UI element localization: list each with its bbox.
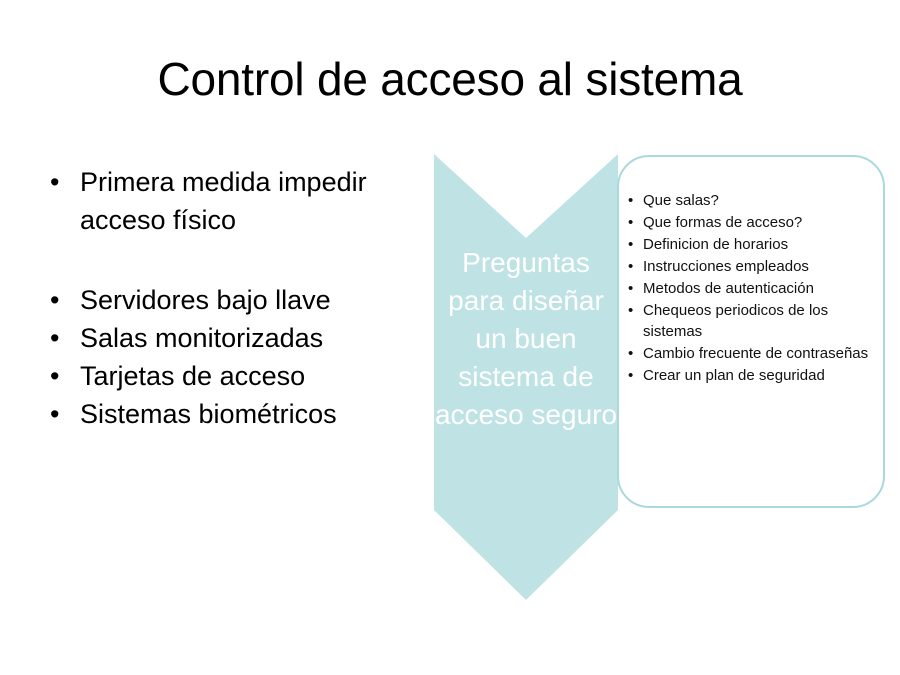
left-bullet-list: •Primera medida impedir acceso físico•Se… xyxy=(50,163,430,433)
list-item: •Sistemas biométricos xyxy=(50,395,430,433)
list-item: •Servidores bajo llave xyxy=(50,281,430,319)
bullet-icon: • xyxy=(628,343,643,364)
bullet-icon: • xyxy=(628,212,643,233)
list-item: •Instrucciones empleados xyxy=(628,256,873,277)
page-title: Control de acceso al sistema xyxy=(0,52,900,106)
list-item-label: Que salas? xyxy=(643,190,873,211)
list-item: •Metodos de autenticación xyxy=(628,278,873,299)
list-item-label: Sistemas biométricos xyxy=(80,395,430,433)
list-item-label: Servidores bajo llave xyxy=(80,281,430,319)
list-item-label: Que formas de acceso? xyxy=(643,212,873,233)
list-item: •Que salas? xyxy=(628,190,873,211)
list-item: •Chequeos periodicos de los sistemas xyxy=(628,300,873,342)
list-item: •Salas monitorizadas xyxy=(50,319,430,357)
bullet-icon: • xyxy=(628,300,643,321)
bullet-icon: • xyxy=(628,365,643,386)
bullet-icon: • xyxy=(50,395,80,433)
bullet-icon: • xyxy=(50,319,80,357)
bullet-icon: • xyxy=(50,281,80,319)
questions-bullet-list: •Que salas?•Que formas de acceso?•Defini… xyxy=(628,190,873,387)
list-item-label: Primera medida impedir acceso físico xyxy=(80,163,430,239)
list-item-label: Instrucciones empleados xyxy=(643,256,873,277)
list-item: •Primera medida impedir acceso físico xyxy=(50,163,430,239)
list-item-label: Metodos de autenticación xyxy=(643,278,873,299)
bullet-icon: • xyxy=(50,357,80,395)
list-item: •Que formas de acceso? xyxy=(628,212,873,233)
list-item-label: Tarjetas de acceso xyxy=(80,357,430,395)
list-item: •Crear un plan de seguridad xyxy=(628,365,873,386)
bullet-icon: • xyxy=(628,278,643,299)
list-item: •Tarjetas de acceso xyxy=(50,357,430,395)
chevron-label: Preguntas para diseñar un buen sistema d… xyxy=(434,244,618,434)
list-item-label: Salas monitorizadas xyxy=(80,319,430,357)
bullet-icon: • xyxy=(628,190,643,211)
bullet-icon: • xyxy=(628,256,643,277)
list-item: •Definicion de horarios xyxy=(628,234,873,255)
list-item-label: Chequeos periodicos de los sistemas xyxy=(643,300,873,342)
list-item-label: Crear un plan de seguridad xyxy=(643,365,873,386)
list-item: •Cambio frecuente de contraseñas xyxy=(628,343,873,364)
list-item-label: Cambio frecuente de contraseñas xyxy=(643,343,873,364)
bullet-icon: • xyxy=(50,163,80,201)
list-item-label: Definicion de horarios xyxy=(643,234,873,255)
slide-canvas: Control de acceso al sistema •Primera me… xyxy=(0,0,900,675)
bullet-icon: • xyxy=(628,234,643,255)
